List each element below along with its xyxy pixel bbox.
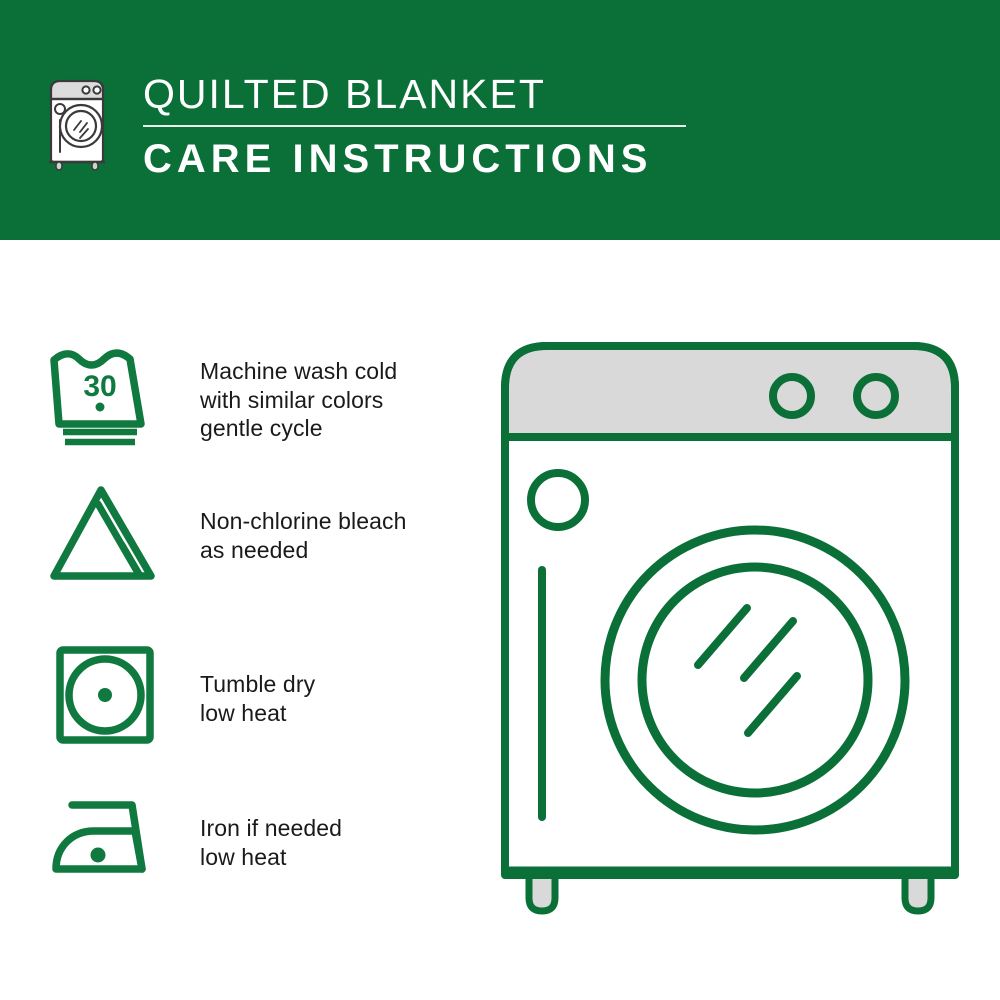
- care-text-line: low heat: [200, 843, 342, 872]
- title-divider: [143, 125, 686, 127]
- non-chlorine-bleach-triangle-icon: [46, 478, 166, 588]
- care-text-line: gentle cycle: [200, 414, 397, 443]
- care-text-line: Machine wash cold: [200, 357, 397, 386]
- care-instructions-list: 30 Machine wash cold with similar colors…: [0, 240, 480, 1000]
- page-title-primary: QUILTED BLANKET: [143, 70, 783, 118]
- care-row-text-iron: Iron if needed low heat: [200, 814, 342, 871]
- wash-temperature-value: 30: [83, 370, 116, 403]
- detergent-port: [531, 473, 585, 527]
- care-text-line: with similar colors: [200, 386, 397, 415]
- wash-tub-30-gentle-icon: 30: [46, 340, 166, 450]
- care-row-text-machine-wash: Machine wash cold with similar colors ge…: [200, 357, 397, 443]
- care-text-line: Iron if needed: [200, 814, 342, 843]
- iron-low-heat-icon: [46, 785, 166, 895]
- tumble-dry-low-heat-icon: [46, 640, 166, 750]
- care-instructions-infographic: QUILTED BLANKET CARE INSTRUCTIONS 30: [0, 0, 1000, 1000]
- knob-left: [773, 377, 811, 415]
- care-row-text-bleach: Non-chlorine bleach as needed: [200, 507, 406, 564]
- care-text-line: Tumble dry: [200, 670, 315, 699]
- header-title-block: QUILTED BLANKET CARE INSTRUCTIONS: [143, 70, 783, 182]
- care-row-text-tumble-dry: Tumble dry low heat: [200, 670, 315, 727]
- care-text-line: Non-chlorine bleach: [200, 507, 406, 536]
- header-banner: QUILTED BLANKET CARE INSTRUCTIONS: [0, 0, 1000, 240]
- care-text-line: low heat: [200, 699, 315, 728]
- door-inner-ring: [642, 567, 868, 793]
- page-title-secondary: CARE INSTRUCTIONS: [143, 136, 783, 182]
- washing-machine-icon: [44, 68, 110, 172]
- care-text-line: as needed: [200, 536, 406, 565]
- knob-right: [857, 377, 895, 415]
- front-load-washing-machine-illustration: [495, 330, 965, 935]
